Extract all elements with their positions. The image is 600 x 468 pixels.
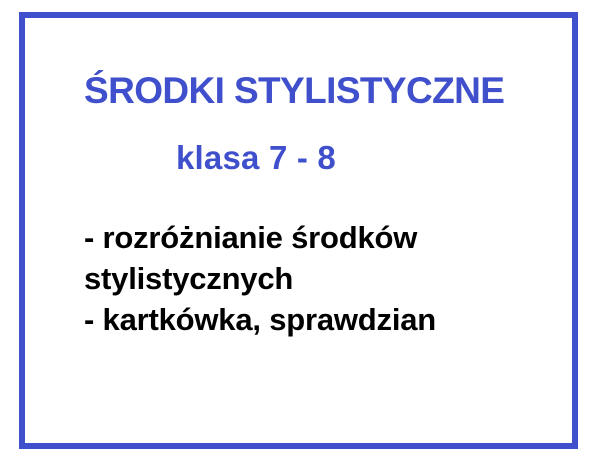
body-line-2: stylistycznych (84, 258, 554, 299)
body-text-block: - rozróżnianie środków stylistycznych - … (84, 217, 554, 340)
page-subtitle: klasa 7 - 8 (176, 139, 336, 177)
slide-content: ŚRODKI STYLISTYCZNE klasa 7 - 8 - rozróż… (0, 0, 600, 468)
body-line-1: - rozróżnianie środków (84, 217, 554, 258)
page-title: ŚRODKI STYLISTYCZNE (84, 71, 504, 111)
slide-canvas: ŚRODKI STYLISTYCZNE klasa 7 - 8 - rozróż… (0, 0, 600, 468)
body-line-3: - kartkówka, sprawdzian (84, 299, 554, 340)
